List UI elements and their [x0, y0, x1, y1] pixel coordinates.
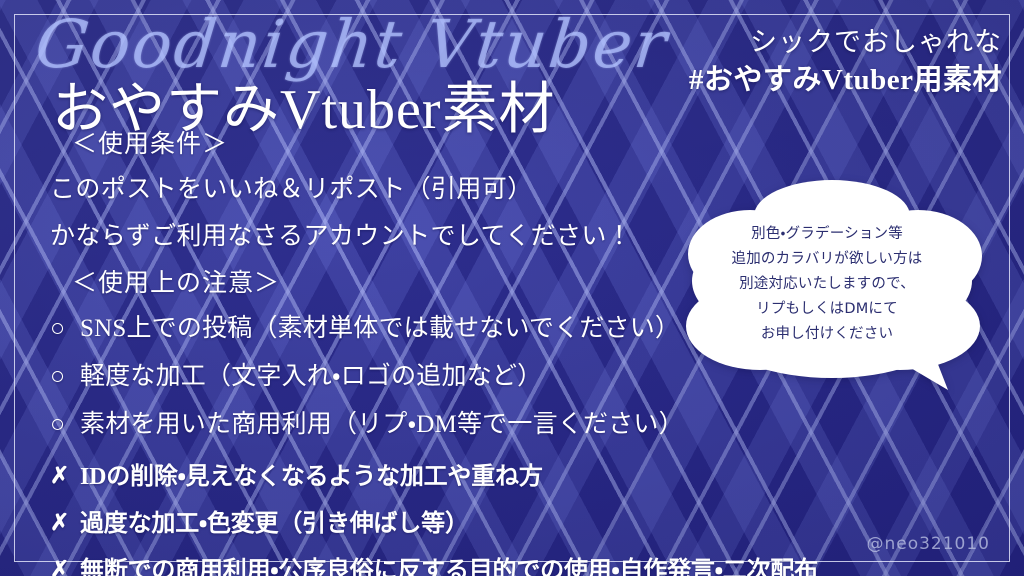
poster-canvas: Goodnight Vtuber おやすみVtuber素材 シックでおしゃれな …	[0, 0, 1024, 576]
cross-icon: ✗	[50, 557, 80, 576]
bubble-line: お申し付けください	[672, 322, 982, 347]
terms-line-2: かならずご利用なさるアカウントでしてください！	[30, 216, 730, 252]
terms-line-1: このポストをいいね＆リポスト（引用可）	[30, 169, 730, 205]
rule-item: ○ 軽度な加工（文字入れ・ロゴの追加など）	[30, 356, 730, 392]
cross-icon: ✗	[50, 463, 80, 489]
rule-text: 過度な加工・色変更（引き伸ばし等）	[80, 503, 469, 538]
rule-item: ✗ 無断での商用利用・公序良俗に反する目的での使用・自作発言・二次配布	[30, 550, 730, 576]
bubble-line: リプもしくはDMにて	[672, 297, 982, 322]
rules-allowed-list: ○ SNS上での投稿（素材単体では載せないでください） ○ 軽度な加工（文字入れ…	[30, 308, 730, 440]
header-tagline: シックでおしゃれな	[689, 26, 1002, 59]
rule-item: ○ SNS上での投稿（素材単体では載せないでください）	[30, 308, 730, 344]
bubble-line: 別色・グラデーション等	[672, 222, 982, 247]
author-handle: @neo321010	[866, 534, 990, 554]
decorative-script-text: Goodnight Vtuber	[32, 6, 672, 83]
rule-item: ✗ 過度な加工・色変更（引き伸ばし等）	[30, 503, 730, 538]
notes-heading: ＜使用上の注意＞	[30, 263, 730, 299]
cross-icon: ✗	[50, 510, 80, 536]
speech-bubble: 別色・グラデーション等 追加のカラバリが欲しい方は 別途対応いたしますので、 リ…	[672, 176, 992, 391]
terms-heading: ＜使用条件＞	[30, 124, 730, 160]
speech-bubble-text: 別色・グラデーション等 追加のカラバリが欲しい方は 別途対応いたしますので、 リ…	[672, 222, 982, 347]
terms-body: ＜使用条件＞ このポストをいいね＆リポスト（引用可） かならずご利用なさるアカウ…	[30, 124, 730, 576]
header-right: シックでおしゃれな #おやすみVtuber用素材	[689, 26, 1002, 98]
bubble-line: 別途対応いたしますので、	[672, 272, 982, 297]
bubble-line: 追加のカラバリが欲しい方は	[672, 247, 982, 272]
rule-item: ✗ IDの削除・見えなくなるような加工や重ね方	[30, 456, 730, 491]
rule-text: 素材を用いた商用利用（リプ・DM等で一言ください）	[80, 404, 684, 440]
rule-text: SNS上での投稿（素材単体では載せないでください）	[80, 308, 680, 344]
rule-text: 無断での商用利用・公序良俗に反する目的での使用・自作発言・二次配布	[80, 550, 818, 576]
rule-text: IDの削除・見えなくなるような加工や重ね方	[80, 456, 543, 491]
circle-icon: ○	[50, 315, 80, 343]
circle-icon: ○	[50, 411, 80, 439]
header-hashtag: #おやすみVtuber用素材	[689, 63, 1002, 98]
rule-text: 軽度な加工（文字入れ・ロゴの追加など）	[80, 356, 542, 392]
rules-forbidden-list: ✗ IDの削除・見えなくなるような加工や重ね方 ✗ 過度な加工・色変更（引き伸ば…	[30, 456, 730, 576]
circle-icon: ○	[50, 363, 80, 391]
rule-item: ○ 素材を用いた商用利用（リプ・DM等で一言ください）	[30, 404, 730, 440]
